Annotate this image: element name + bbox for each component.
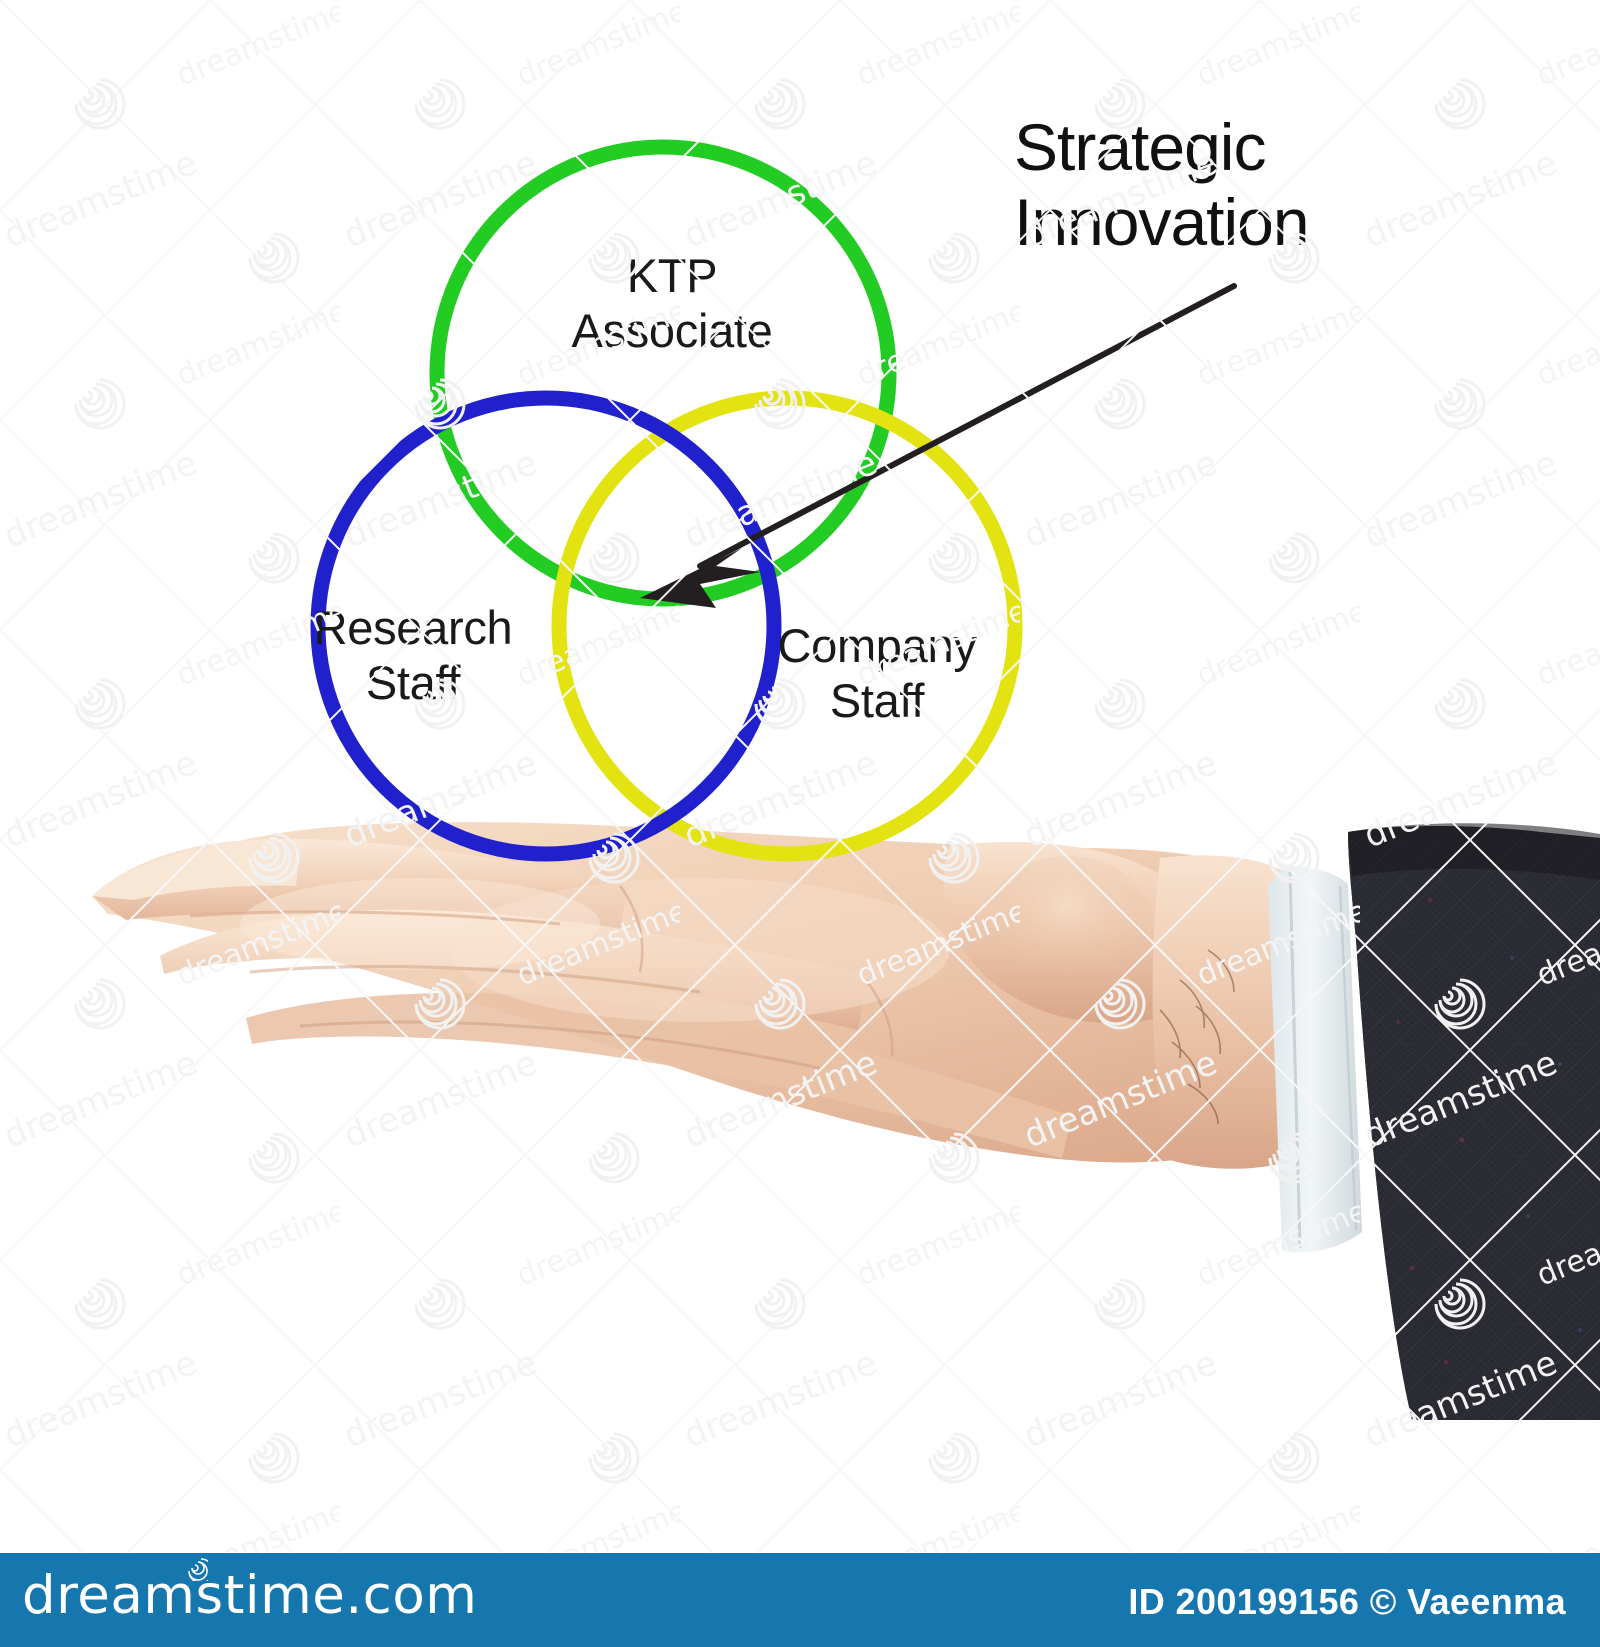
venn-label-research-staff: Research Staff	[248, 600, 578, 711]
venn-label-company-staff: Company Staff	[712, 618, 1042, 729]
dreamstime-logo[interactable]: dreamstime.com	[22, 1569, 477, 1622]
spiral-icon	[182, 1555, 208, 1581]
dreamstime-footer-bar: dreamstime.com ID 200199156 © Vaeenma	[0, 1553, 1600, 1647]
venn-label-ktp-associate: KTP Associate	[512, 248, 832, 359]
screenshot-canvas: KTP Associate Research Staff Company Sta…	[0, 0, 1600, 1647]
dreamstime-logo-text: dreamstime.com	[22, 1569, 477, 1622]
venn-circle-ktp-associate	[437, 147, 889, 599]
image-credit: ID 200199156 © Vaeenma	[1128, 1581, 1566, 1623]
callout-title: Strategic Innovation	[1014, 110, 1434, 260]
